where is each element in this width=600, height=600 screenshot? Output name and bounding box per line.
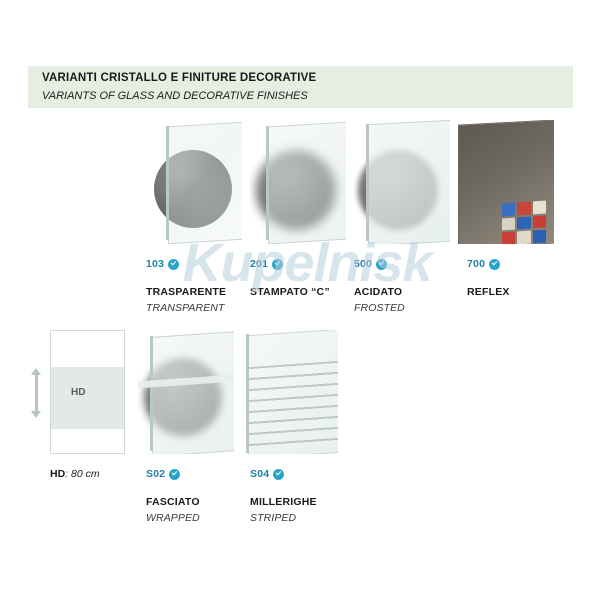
glass-edge: [150, 336, 153, 451]
glass-pane: [268, 122, 346, 244]
code-label: 103: [146, 258, 164, 270]
sample-code-S02: S02: [146, 468, 180, 480]
glass-pane: [368, 120, 450, 244]
sample-image-700: [458, 120, 554, 244]
page-subtitle: VARIANTS OF GLASS AND DECORATIVE FINISHE…: [42, 90, 308, 102]
check-circle-icon: [169, 469, 180, 480]
hd-caption-label: HD: [50, 468, 65, 480]
sample-code-103: 103: [146, 258, 179, 270]
sample-image-S02: [138, 330, 234, 454]
page-title: VARIANTI CRISTALLO E FINITURE DECORATIVE: [42, 72, 316, 84]
stripe-pattern: [248, 361, 338, 454]
code-label: 700: [467, 258, 485, 270]
hd-inner-label: HD: [71, 387, 85, 398]
sample-name-it-500: ACIDATO: [354, 286, 402, 298]
glass-edge: [366, 124, 369, 241]
sample-name-it-103: TRASPARENTE: [146, 286, 226, 298]
sample-image-S04: [242, 330, 338, 454]
hd-caption: HD: 80 cm: [50, 468, 100, 480]
sample-image-103: [146, 120, 242, 244]
sample-name-en-S02: WRAPPED: [146, 512, 200, 524]
sample-name-it-S02: FASCIATO: [146, 496, 200, 508]
sample-code-S04: S04: [250, 468, 284, 480]
check-circle-icon: [168, 259, 179, 270]
sample-code-700: 700: [467, 258, 500, 270]
sample-name-en-S04: STRIPED: [250, 512, 296, 524]
sample-name-it-700: REFLEX: [467, 286, 510, 298]
sample-name-it-201: STAMPATO “C”: [250, 286, 330, 298]
document-page: VARIANTI CRISTALLO E FINITURE DECORATIVE…: [0, 0, 600, 600]
check-circle-icon: [376, 259, 387, 270]
hd-diagram-box: [50, 330, 125, 454]
hd-fill-area: [51, 367, 124, 429]
sample-code-201: 201: [250, 258, 283, 270]
code-label: 201: [250, 258, 268, 270]
sample-image-500: [354, 120, 450, 244]
check-circle-icon: [272, 259, 283, 270]
check-circle-icon: [273, 469, 284, 480]
glass-edge: [246, 334, 249, 453]
glass-pane: [152, 331, 234, 454]
glass-edge: [166, 126, 169, 240]
glass-edge: [266, 126, 269, 240]
sample-name-en-500: FROSTED: [354, 302, 405, 314]
check-circle-icon: [489, 259, 500, 270]
sample-name-it-S04: MILLERIGHE: [250, 496, 317, 508]
glass-pane: [168, 122, 242, 244]
hd-caption-value: : 80 cm: [65, 468, 99, 480]
sample-name-en-103: TRANSPARENT: [146, 302, 225, 314]
color-swatch-grid: [502, 200, 546, 244]
code-label: S04: [250, 468, 269, 480]
sample-code-500: 500: [354, 258, 387, 270]
sample-image-201: [250, 120, 346, 244]
code-label: 500: [354, 258, 372, 270]
hd-dimension-arrow: [29, 368, 45, 418]
code-label: S02: [146, 468, 165, 480]
